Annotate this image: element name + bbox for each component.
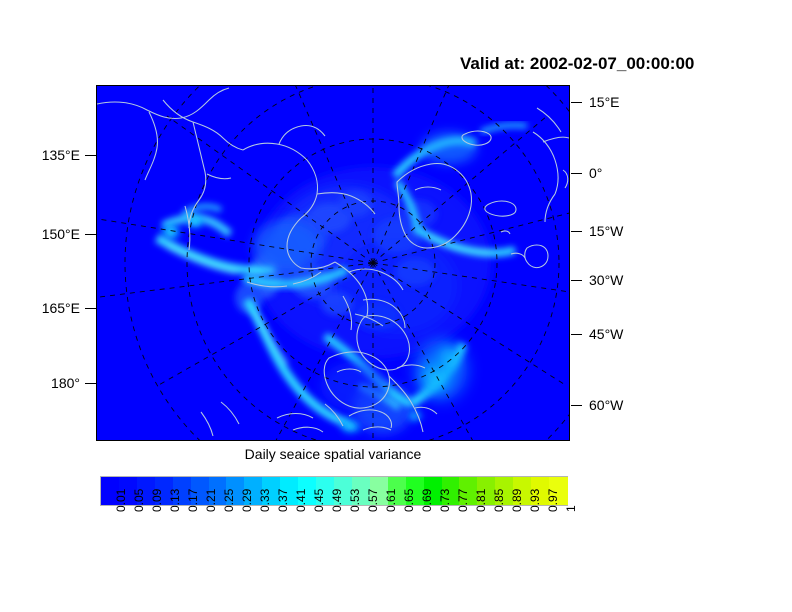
right-tick-5: [571, 405, 582, 406]
right-axis-label-4: 45°W: [589, 326, 623, 342]
right-axis-label-0: 15°E: [589, 94, 620, 110]
colorbar-tick-label: 0.97: [546, 489, 560, 512]
colorbar-tick-label: 1: [564, 505, 578, 512]
right-tick-0: [571, 102, 582, 103]
colorbar-tick-label: 0.77: [456, 489, 470, 512]
map-plot-area[interactable]: [96, 85, 570, 441]
colorbar-tick-label: 0.49: [330, 489, 344, 512]
colorbar-tick-label: 0.01: [114, 489, 128, 512]
right-axis-label-5: 60°W: [589, 397, 623, 413]
colorbar-tick-label: 0.69: [420, 489, 434, 512]
colorbar-tick-label: 0.05: [132, 489, 146, 512]
colorbar-tick-label: 0.33: [258, 489, 272, 512]
colorbar-tick-label: 0.37: [276, 489, 290, 512]
colorbar-tick-label: 0.85: [492, 489, 506, 512]
colorbar-tick-label: 0.53: [348, 489, 362, 512]
colorbar-tick-label: 0.93: [528, 489, 542, 512]
left-axis-label-2: 165°E: [0, 300, 80, 316]
left-tick-1: [85, 234, 96, 235]
left-axis-label-1: 150°E: [0, 226, 80, 242]
colorbar-tick-label: 0.89: [510, 489, 524, 512]
colorbar-tick-label: 0.17: [186, 489, 200, 512]
map-graphic: [97, 86, 569, 440]
right-axis-label-2: 15°W: [589, 223, 623, 239]
figure-canvas: Valid at: 2002-02-07_00:00:00: [0, 0, 792, 612]
colorbar-tick-label: 0.73: [438, 489, 452, 512]
right-tick-4: [571, 334, 582, 335]
right-tick-3: [571, 280, 582, 281]
colorbar-tick-label: 0.21: [204, 489, 218, 512]
left-tick-0: [85, 155, 96, 156]
colorbar-tick-label: 0.61: [384, 489, 398, 512]
colorbar-tick-label: 0.29: [240, 489, 254, 512]
left-axis-label-3: 180°: [0, 375, 80, 391]
left-axis-label-0: 135°E: [0, 147, 80, 163]
left-tick-3: [85, 383, 96, 384]
colorbar-tick-label: 0.45: [312, 489, 326, 512]
page-title: Valid at: 2002-02-07_00:00:00: [460, 54, 694, 74]
colorbar-tick-label: 0.09: [150, 489, 164, 512]
colorbar-tick-label: 0.65: [402, 489, 416, 512]
colorbar-tick-label: 0.81: [474, 489, 488, 512]
colorbar-tick-label: 0.57: [366, 489, 380, 512]
right-axis-label-3: 30°W: [589, 272, 623, 288]
right-tick-2: [571, 231, 582, 232]
colorbar-tick-label: 0.41: [294, 489, 308, 512]
colorbar-tick-label: 0.13: [168, 489, 182, 512]
left-tick-2: [85, 308, 96, 309]
x-axis-label: Daily seaice spatial variance: [96, 446, 570, 462]
right-tick-1: [571, 173, 582, 174]
colorbar-tick-label: 0.25: [222, 489, 236, 512]
right-axis-label-1: 0°: [589, 165, 602, 181]
